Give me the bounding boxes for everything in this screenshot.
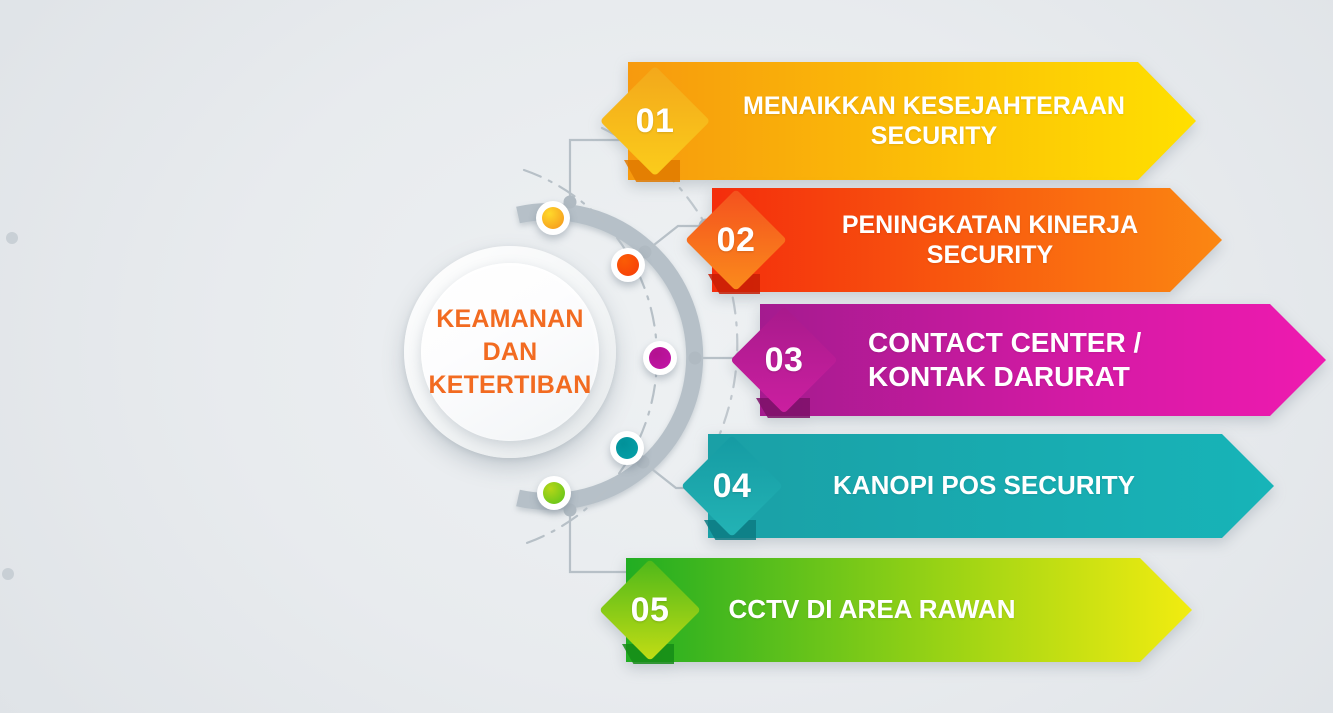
node-dot-02[interactable] [611,248,645,282]
badge-03: 03 [746,322,822,398]
node-dot-03-fill [649,347,671,369]
banner-05-body: CCTV DI AREA RAWAN [626,558,1192,662]
badge-01: 01 [616,82,694,160]
hub-label: KEAMANAN DAN KETERTIBAN [428,303,591,402]
banner-item-05[interactable]: 05 CCTV DI AREA RAWAN [626,558,1192,662]
node-dot-01-fill [542,207,564,229]
banner-01-title: MENAIKKAN KESEJAHTERAAN SECURITY [743,91,1125,152]
badge-04: 04 [696,450,768,522]
node-dot-02-fill [617,254,639,276]
badge-03-number: 03 [765,341,804,380]
banner-item-03[interactable]: 03 CONTACT CENTER / KONTAK DARURAT [760,304,1326,416]
banner-04-body: KANOPI POS SECURITY [708,434,1274,538]
hub-circle-inner: KEAMANAN DAN KETERTIBAN [421,263,599,441]
joint-dots [2,133,750,581]
banner-04-title: KANOPI POS SECURITY [833,470,1135,502]
banner-01-body: MENAIKKAN KESEJAHTERAAN SECURITY [628,62,1196,180]
banner-02-title: PENINGKATAN KINERJA SECURITY [808,210,1172,271]
badge-04-number: 04 [713,467,752,506]
node-dot-04-fill [616,437,638,459]
banner-item-04[interactable]: 04 KANOPI POS SECURITY [708,434,1274,538]
node-dot-05-fill [543,482,565,504]
banner-item-02[interactable]: 02 PENINGKATAN KINERJA SECURITY [712,188,1222,292]
banner-item-01[interactable]: 01 MENAIKKAN KESEJAHTERAAN SECURITY [628,62,1196,180]
badge-02-number: 02 [717,221,756,260]
node-dot-03[interactable] [643,341,677,375]
banner-02-body: PENINGKATAN KINERJA SECURITY [712,188,1222,292]
infographic-canvas: KEAMANAN DAN KETERTIBAN 01 [0,0,1333,713]
banner-03-body: CONTACT CENTER / KONTAK DARURAT [760,304,1326,416]
banner-05-title: CCTV DI AREA RAWAN [729,594,1016,626]
banner-03-title: CONTACT CENTER / KONTAK DARURAT [868,326,1141,394]
badge-05: 05 [614,574,686,646]
node-dot-01[interactable] [536,201,570,235]
badge-02: 02 [700,204,772,276]
badge-01-number: 01 [636,102,675,141]
node-dot-04[interactable] [610,431,644,465]
node-dot-05[interactable] [537,476,571,510]
hub-circle: KEAMANAN DAN KETERTIBAN [404,246,616,458]
badge-05-number: 05 [631,591,670,630]
